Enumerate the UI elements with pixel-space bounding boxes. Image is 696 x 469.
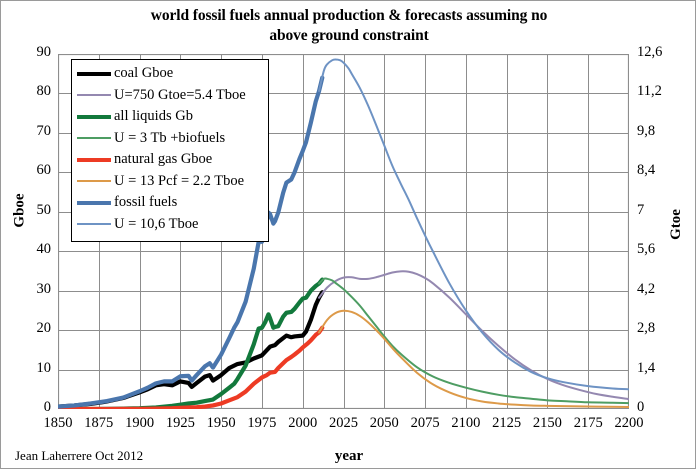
x-tick: 2175 <box>566 415 610 432</box>
series-line <box>58 292 322 406</box>
y-left-tick: 90 <box>11 44 51 61</box>
y-right-tick: 12,6 <box>637 44 681 61</box>
y-right-tick: 7 <box>637 202 681 219</box>
series-line <box>319 271 629 399</box>
y-left-tick: 80 <box>11 83 51 100</box>
y-right-tick: 11,2 <box>637 83 681 100</box>
legend-label: coal Gboe <box>114 66 173 81</box>
chart-title: world fossil fuels annual production & f… <box>1 6 696 46</box>
legend-label: fossil fuels <box>114 195 177 210</box>
legend-label: U = 13 Pcf = 2.2 Tboe <box>114 174 244 189</box>
y-right-tick: 1,4 <box>637 360 681 377</box>
x-tick: 1975 <box>240 415 284 432</box>
x-tick: 1850 <box>36 415 80 432</box>
legend-color-swatch <box>77 137 111 139</box>
x-tick: 2100 <box>444 415 488 432</box>
y-right-tick: 5,6 <box>637 241 681 258</box>
legend-color-swatch <box>77 72 111 76</box>
x-tick: 1900 <box>118 415 162 432</box>
y-right-tick: 4,2 <box>637 281 681 298</box>
y-right-tick: 2,8 <box>637 320 681 337</box>
legend-color-swatch <box>77 201 111 205</box>
x-tick: 2050 <box>362 415 406 432</box>
series-line <box>319 311 629 407</box>
x-tick: 2000 <box>281 415 325 432</box>
legend-item-5[interactable]: U = 13 Pcf = 2.2 Tboe <box>76 171 264 193</box>
chart-figure: world fossil fuels annual production & f… <box>0 0 696 469</box>
legend-item-1[interactable]: U=750 Gtoe=5.4 Tboe <box>76 85 264 107</box>
legend-color-swatch <box>77 94 111 96</box>
author-credit: Jean Laherrere Oct 2012 <box>15 448 143 464</box>
y-left-tick: 0 <box>11 399 51 416</box>
x-tick: 2025 <box>322 415 366 432</box>
chart-title-line1: world fossil fuels annual production & f… <box>151 7 548 24</box>
legend-color-swatch <box>77 158 111 162</box>
x-tick: 2150 <box>525 415 569 432</box>
y-left-tick: 10 <box>11 360 51 377</box>
legend-item-4[interactable]: natural gas Gboe <box>76 149 264 171</box>
y-right-tick: 0 <box>637 399 681 416</box>
y-right-tick: 8,4 <box>637 162 681 179</box>
y-left-tick: 20 <box>11 320 51 337</box>
legend-item-3[interactable]: U = 3 Tb +biofuels <box>76 128 264 150</box>
legend-item-7[interactable]: U = 10,6 Tboe <box>76 214 264 236</box>
legend-item-0[interactable]: coal Gboe <box>76 63 264 85</box>
y-left-tick: 70 <box>11 123 51 140</box>
legend-label: U = 3 Tb +biofuels <box>114 131 225 146</box>
legend-label: U=750 Gtoe=5.4 Tboe <box>114 88 246 103</box>
legend-color-swatch <box>77 223 111 225</box>
legend-color-swatch <box>77 180 111 182</box>
y-left-tick: 60 <box>11 162 51 179</box>
x-tick: 2075 <box>403 415 447 432</box>
series-line <box>58 280 322 409</box>
y-left-tick: 30 <box>11 281 51 298</box>
x-tick: 1925 <box>158 415 202 432</box>
legend-label: all liquids Gb <box>114 109 193 124</box>
x-tick: 2125 <box>485 415 529 432</box>
x-tick: 1950 <box>199 415 243 432</box>
y-left-tick: 40 <box>11 241 51 258</box>
y-right-tick: 9,8 <box>637 123 681 140</box>
x-tick: 1875 <box>77 415 121 432</box>
chart-legend: coal GboeU=750 Gtoe=5.4 Tboeall liquids … <box>71 59 269 242</box>
legend-color-swatch <box>77 115 111 119</box>
legend-label: U = 10,6 Tboe <box>114 217 198 232</box>
y-left-tick: 50 <box>11 202 51 219</box>
legend-item-6[interactable]: fossil fuels <box>76 192 264 214</box>
legend-item-2[interactable]: all liquids Gb <box>76 106 264 128</box>
x-tick: 2200 <box>607 415 651 432</box>
legend-label: natural gas Gboe <box>114 152 212 167</box>
series-line <box>319 60 629 390</box>
chart-title-line2: above ground constraint <box>1 26 696 46</box>
